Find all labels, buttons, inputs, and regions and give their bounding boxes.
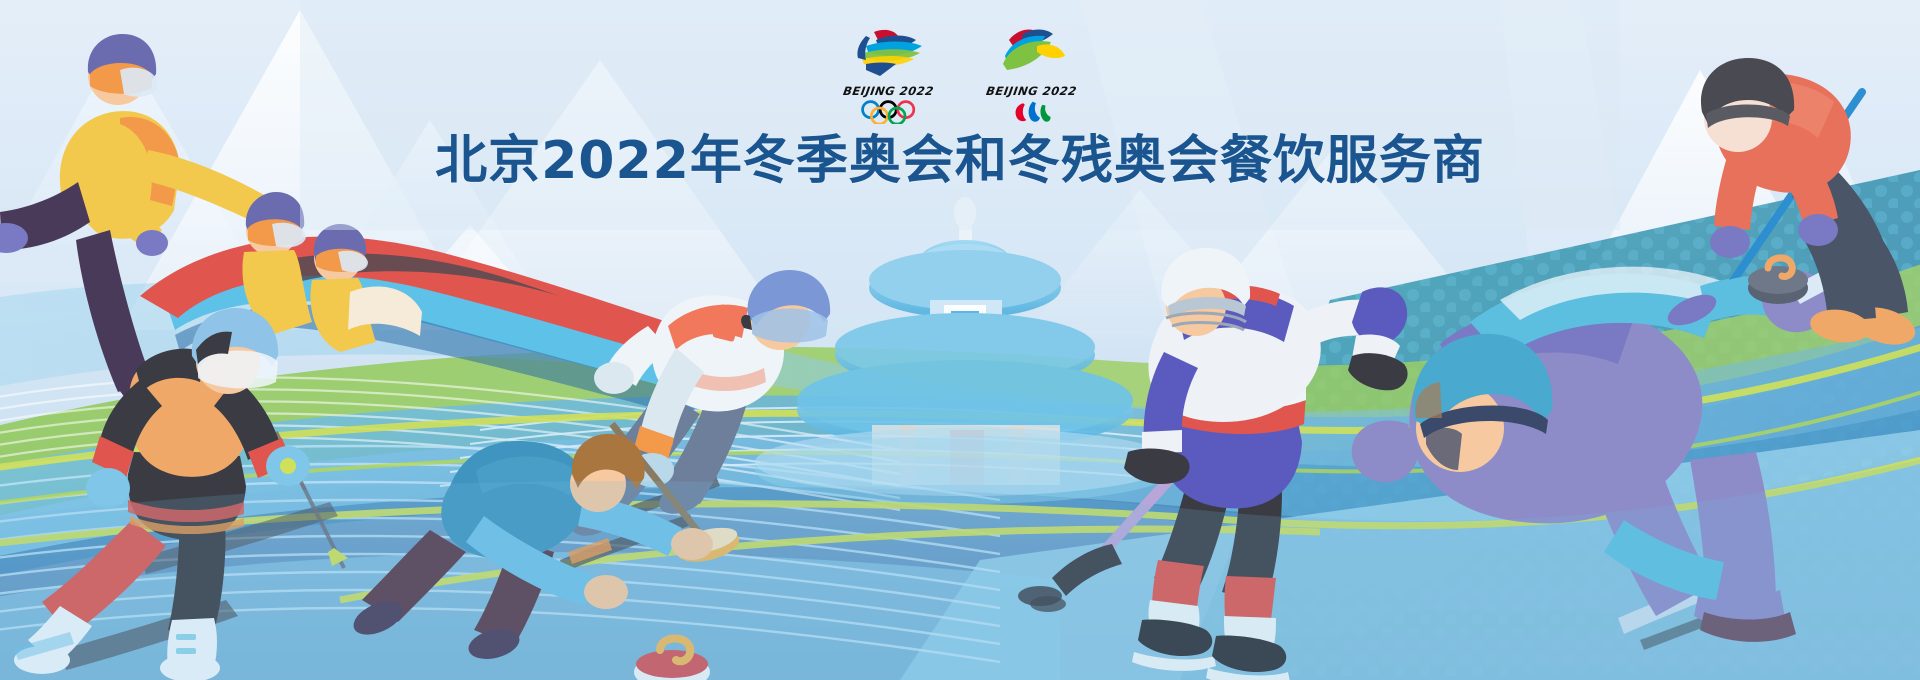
title-haze [300,0,1620,230]
banner-artwork [0,0,1920,680]
beijing-2022-banner: BEIJING 2022 [0,0,1920,680]
